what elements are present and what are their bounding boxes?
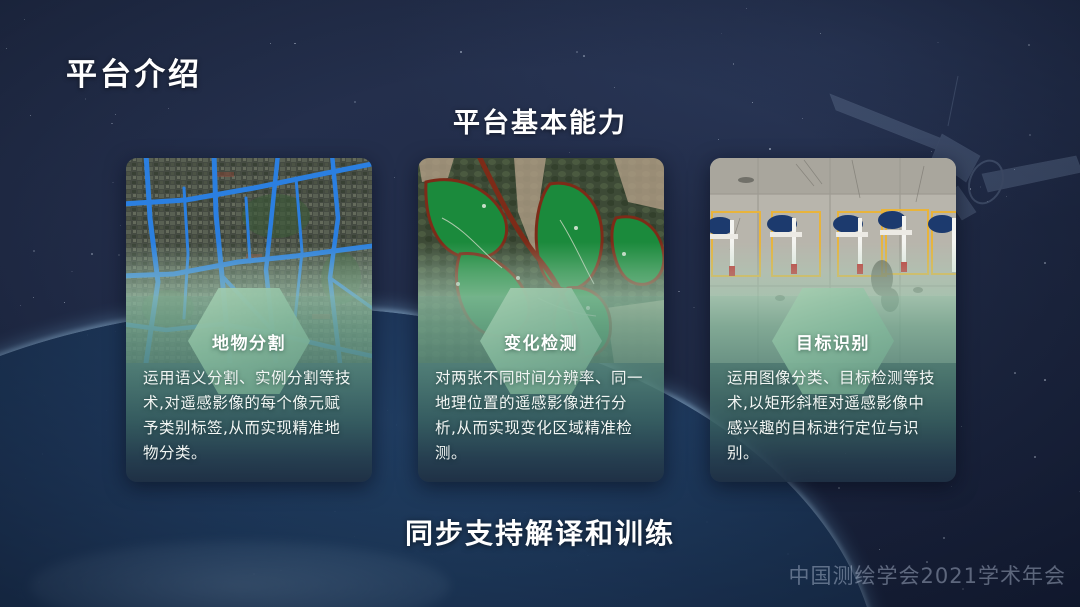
page-title: 平台介绍 [66,49,202,94]
card-description: 对两张不同时间分辨率、同一地理位置的遥感影像进行分析,从而实现变化区域精准检测。 [435,366,648,466]
capability-card[interactable]: 地物分割 运用语义分割、实例分割等技术,对遥感影像的每个像元赋予类别标签,从而实… [126,158,372,482]
capability-card-list: 地物分割 运用语义分割、实例分割等技术,对遥感影像的每个像元赋予类别标签,从而实… [126,158,956,482]
card-badge-label: 变化检测 [504,329,578,354]
card-description: 运用图像分类、目标检测等技术,以矩形斜框对遥感影像中感兴趣的目标进行定位与识别。 [727,366,940,466]
capability-card[interactable]: 变化检测 对两张不同时间分辨率、同一地理位置的遥感影像进行分析,从而实现变化区域… [418,158,664,482]
card-photo-fade [126,242,372,296]
watermark: 中国测绘学会2021学术年会 [789,560,1066,590]
capability-card[interactable]: 目标识别 运用图像分类、目标检测等技术,以矩形斜框对遥感影像中感兴趣的目标进行定… [710,158,956,482]
card-photo-fade [418,242,664,296]
card-description: 运用语义分割、实例分割等技术,对遥感影像的每个像元赋予类别标签,从而实现精准地物… [143,366,356,466]
slide-canvas: 平台介绍 平台基本能力 [0,0,1080,607]
card-badge-label: 目标识别 [796,329,870,354]
footer-title: 同步支持解译和训练 [0,512,1080,552]
card-photo-fade [710,242,956,296]
card-badge-label: 地物分割 [212,329,286,354]
section-title: 平台基本能力 [0,101,1080,140]
